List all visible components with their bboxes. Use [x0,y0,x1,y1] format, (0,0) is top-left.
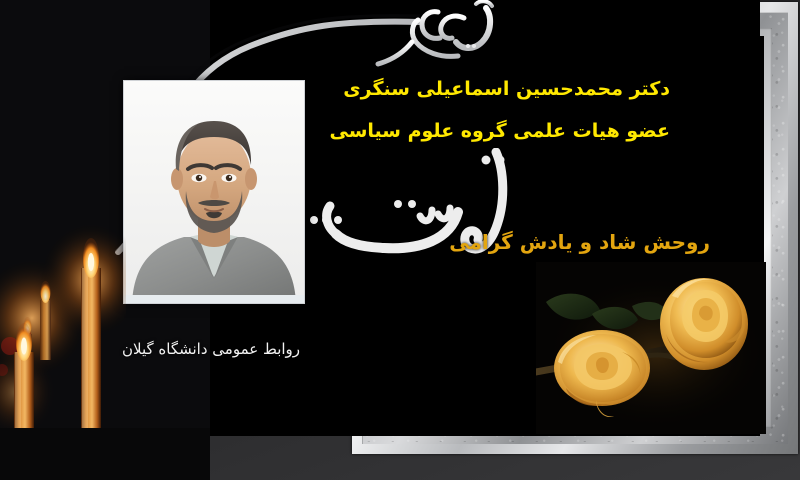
portrait-photo [124,81,304,303]
signature-organization: روابط عمومی دانشگاه گیلان [122,340,300,358]
deceased-name: دکتر محمدحسین اسماعیلی سنگری [343,78,670,100]
deceased-role: عضو هیات علمی گروه علوم سیاسی [330,120,671,142]
bottom-left-black-block [0,428,210,480]
blessing-text: روحش شاد و یادش گرامی [449,230,710,254]
condolence-poster: دکتر محمدحسین اسماعیلی سنگری عضو هیات عل… [0,0,800,480]
